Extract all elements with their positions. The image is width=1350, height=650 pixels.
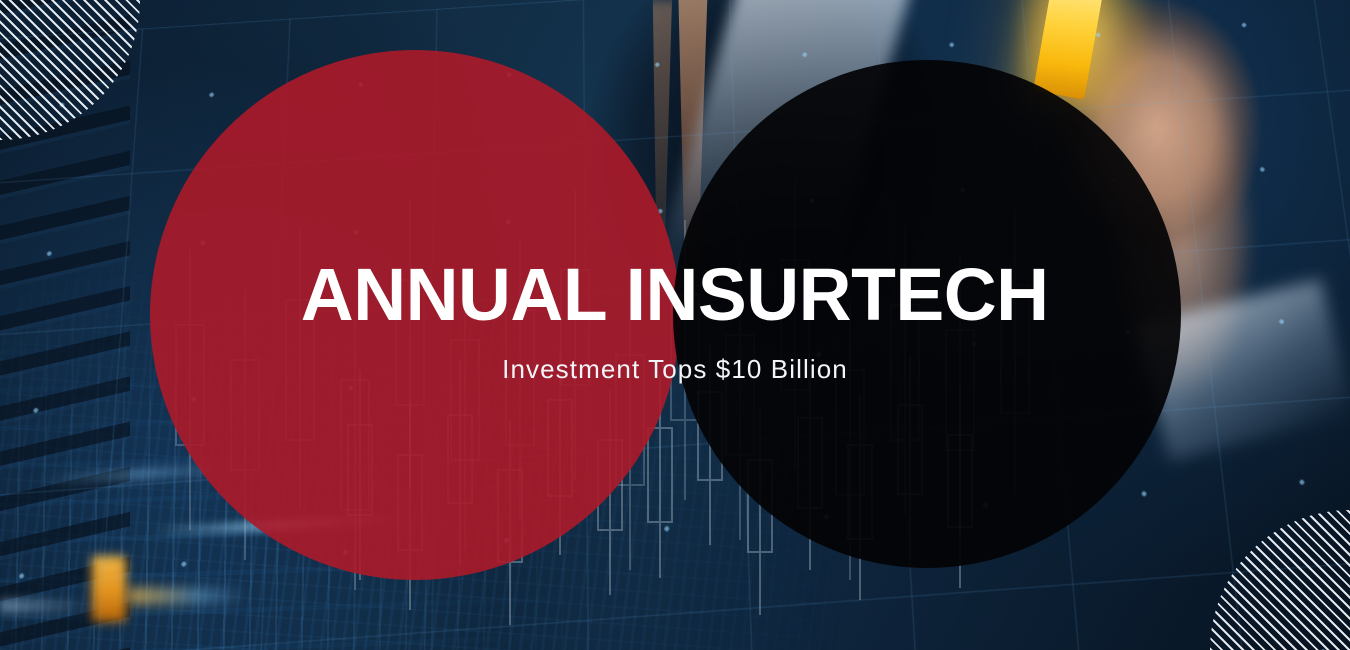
banner-text-block: ANNUAL INSURTECH Investment Tops $10 Bil… xyxy=(0,0,1350,650)
page-title: ANNUAL INSURTECH xyxy=(301,258,1049,332)
page-subtitle: Investment Tops $10 Billion xyxy=(502,354,848,385)
annual-insurtech-banner: ANNUAL INSURTECH Investment Tops $10 Bil… xyxy=(0,0,1350,650)
